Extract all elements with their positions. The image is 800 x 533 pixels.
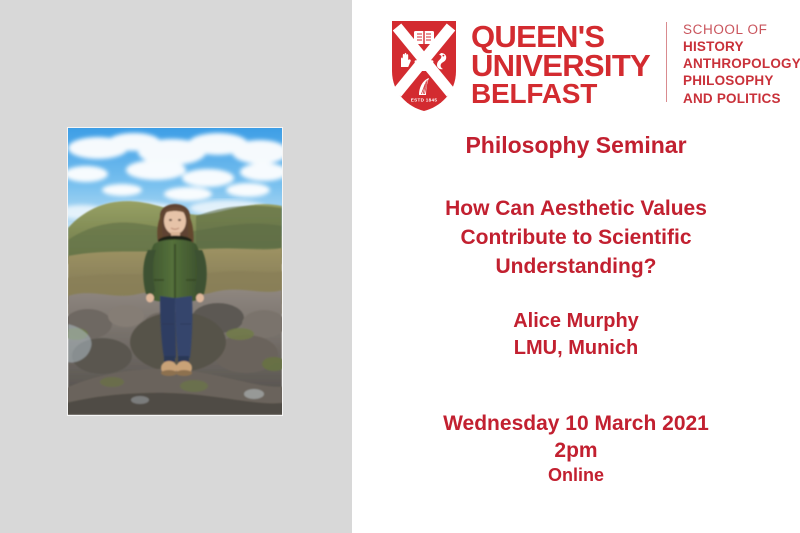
talk-title: How Can Aesthetic Values Contribute to S… [352, 195, 800, 282]
university-wordmark: QUEEN'S UNIVERSITY BELFAST [471, 23, 650, 107]
wordmark-line-belfast: BELFAST [471, 81, 650, 107]
crest-motto: ESTD 1845 [411, 98, 438, 103]
seminar-poster: ESTD 1845 QUEEN'S UNIVERSITY BELFAST SCH… [0, 0, 800, 533]
queens-university-belfast-logo: ESTD 1845 QUEEN'S UNIVERSITY BELFAST SCH… [390, 15, 782, 120]
school-line-school-of: SCHOOL OF [683, 21, 800, 38]
speaker-name: Alice Murphy [352, 308, 800, 336]
school-line-philosophy: PHILOSOPHY [683, 72, 800, 89]
queens-crest-icon: ESTD 1845 [390, 19, 458, 113]
talk-title-line-1: How Can Aesthetic Values [352, 195, 800, 224]
speaker-block: Alice Murphy LMU, Munich [352, 308, 800, 363]
speaker-photo-panel [0, 0, 352, 533]
speaker-photo-illustration [68, 128, 282, 415]
event-date: Wednesday 10 March 2021 [352, 411, 800, 438]
school-line-and-politics: AND POLITICS [683, 90, 800, 107]
event-mode: Online [352, 464, 800, 487]
poster-text-content: Philosophy Seminar How Can Aesthetic Val… [352, 132, 800, 488]
talk-title-line-3: Understanding? [352, 253, 800, 282]
school-line-anthropology: ANTHROPOLOGY [683, 55, 800, 72]
school-line-history: HISTORY [683, 38, 800, 55]
talk-title-line-2: Contribute to Scientific [352, 224, 800, 253]
speaker-photo [68, 128, 282, 415]
logo-divider [666, 22, 667, 102]
speaker-affiliation: LMU, Munich [352, 335, 800, 363]
school-name-block: SCHOOL OF HISTORY ANTHROPOLOGY PHILOSOPH… [683, 21, 800, 107]
wordmark-line-university: UNIVERSITY [471, 52, 650, 81]
poster-content-panel: ESTD 1845 QUEEN'S UNIVERSITY BELFAST SCH… [352, 0, 800, 533]
event-time: 2pm [352, 438, 800, 465]
crest-estd-banner: ESTD 1845 [407, 96, 441, 103]
event-details: Wednesday 10 March 2021 2pm Online [352, 411, 800, 488]
seminar-kicker: Philosophy Seminar [352, 132, 800, 160]
